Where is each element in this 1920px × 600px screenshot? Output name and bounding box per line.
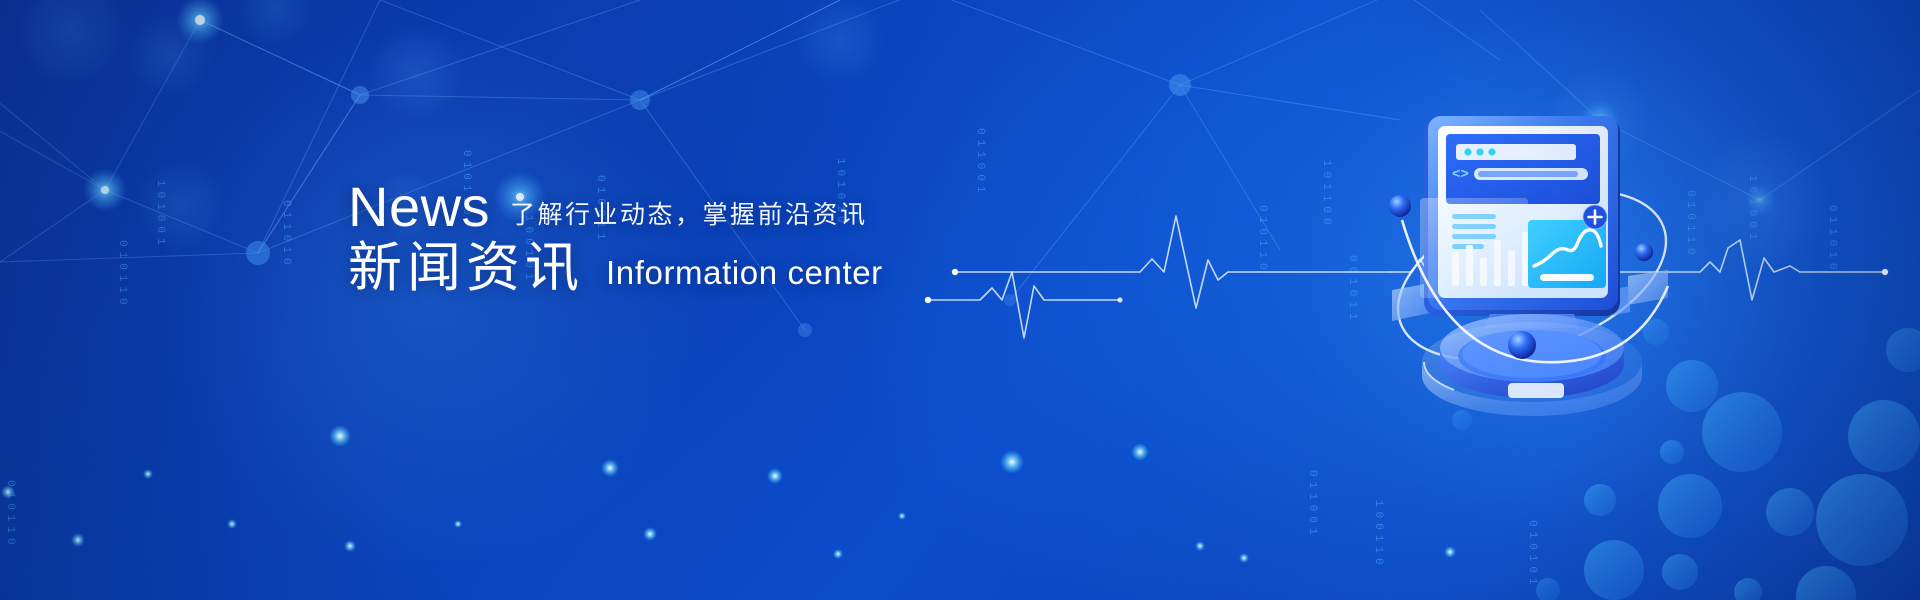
- background-vignette: [0, 0, 1920, 600]
- news-banner: 010110 101001 011010 010110 100101 01001…: [0, 0, 1920, 600]
